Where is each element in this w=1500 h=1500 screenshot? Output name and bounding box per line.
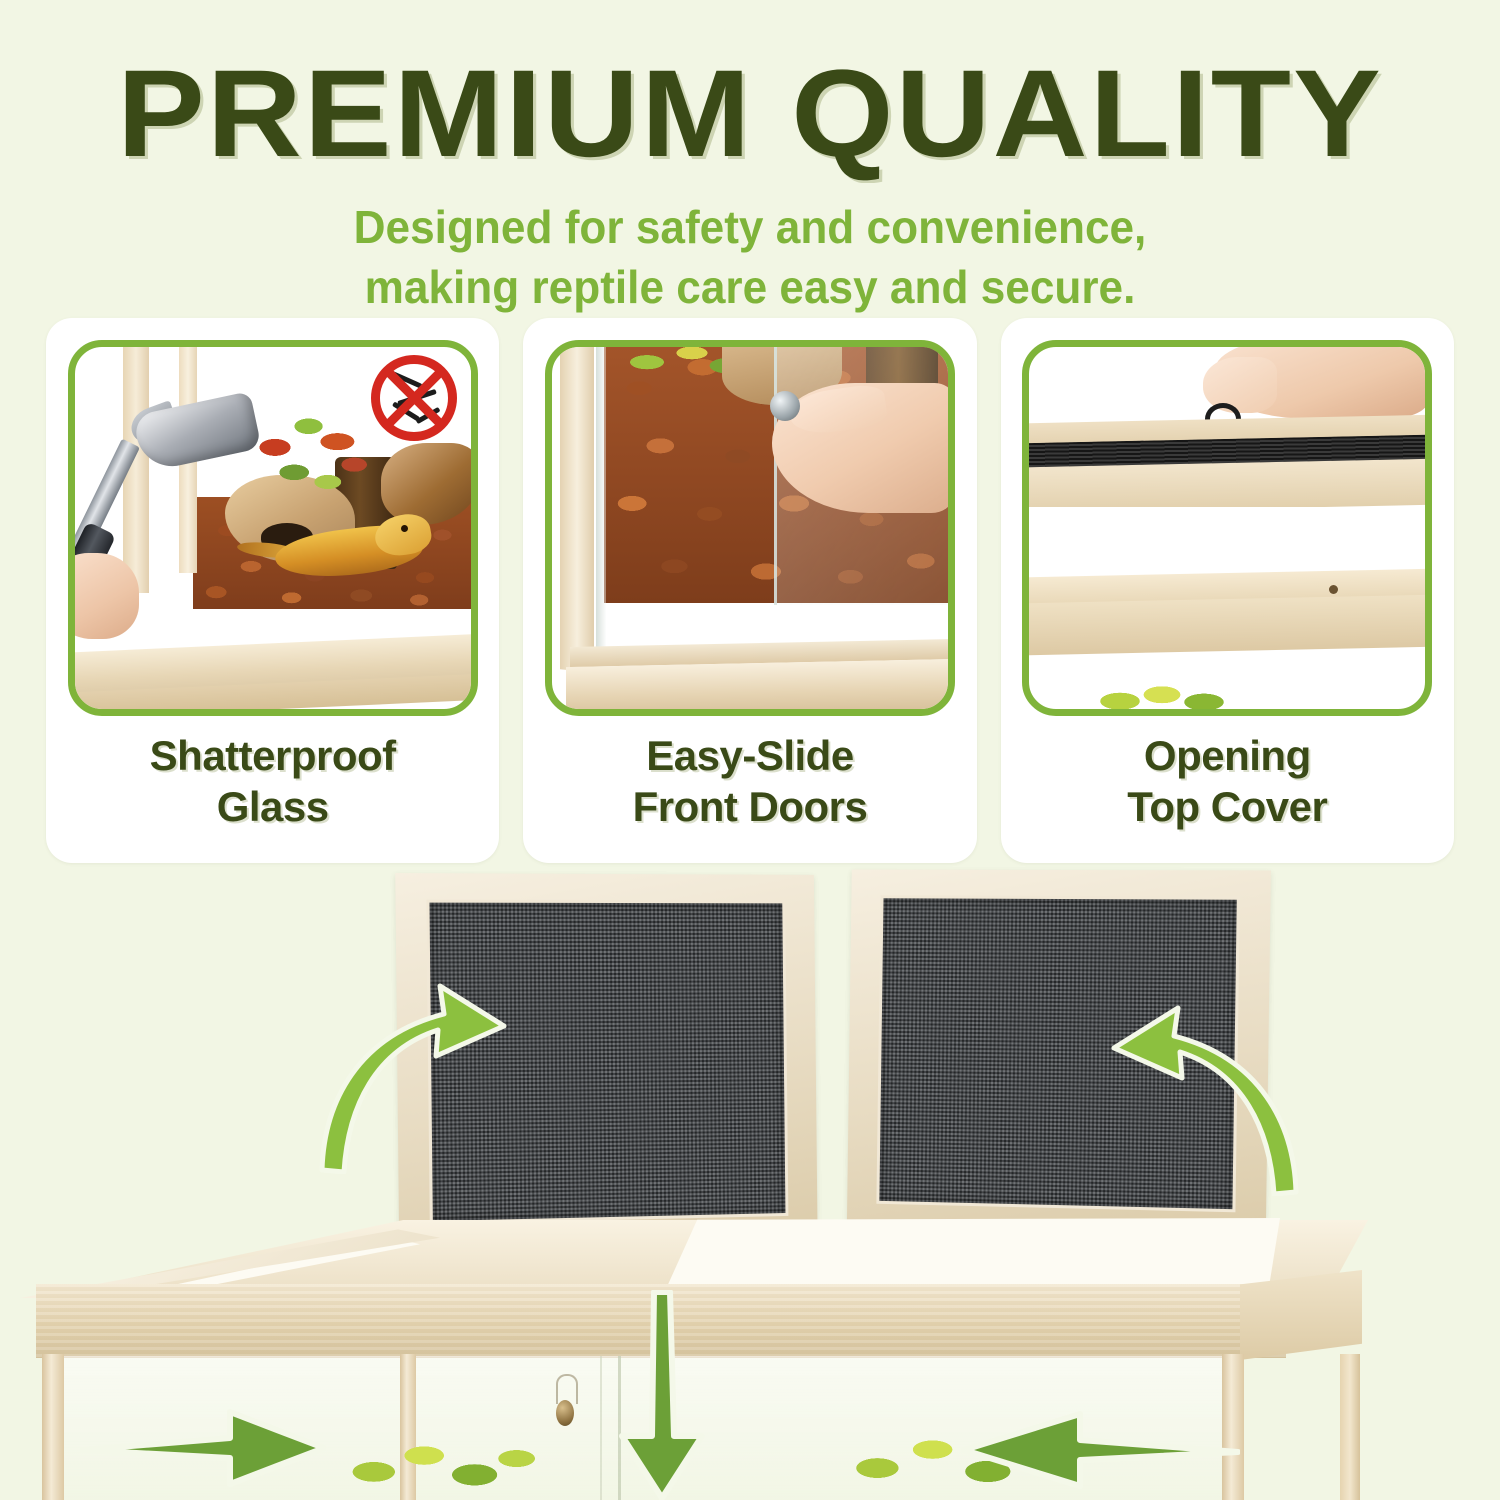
feature-card-caption: Easy-Slide Front Doors: [633, 730, 868, 832]
curved-arrow-left-icon: [1100, 996, 1300, 1196]
caption-line-2: Front Doors: [633, 781, 868, 832]
infographic-page: PREMIUM QUALITY Designed for safety and …: [0, 0, 1500, 1500]
door-knob: [770, 391, 800, 421]
subtitle-line-1: Designed for safety and convenience,: [30, 198, 1470, 258]
artificial-plant-left: [336, 1426, 546, 1500]
arrow-right-icon: [80, 1398, 326, 1494]
caption-line-1: Opening: [1127, 730, 1327, 781]
glass-edge: [596, 340, 606, 661]
artificial-plant: [1087, 669, 1237, 715]
caption-line-2: Glass: [150, 781, 396, 832]
artificial-plant: [251, 409, 371, 505]
caption-line-1: Shatterproof: [150, 730, 396, 781]
wood-frame-post: [560, 340, 594, 673]
hand-holding-hammer: [68, 553, 139, 639]
no-shatter-icon: [371, 355, 457, 441]
arrow-down-icon: [608, 1290, 718, 1500]
wood-base-rail: [566, 659, 955, 716]
opening-top-cover-photo: [1022, 340, 1432, 716]
cabinet-leg-left: [42, 1354, 64, 1500]
shatterproof-glass-photo: [68, 340, 478, 716]
feature-card-shatterproof-glass[interactable]: Shatterproof Glass: [46, 318, 499, 863]
cabinet-leg-far-right: [1340, 1354, 1360, 1500]
page-title: PREMIUM QUALITY: [0, 52, 1500, 176]
wood-board-fourth: [1022, 595, 1432, 656]
subtitle-line-2: making reptile care easy and secure.: [30, 258, 1470, 318]
enclosure-gap: [1022, 507, 1432, 577]
glass-door-edge: [600, 1356, 602, 1500]
feature-card-row: Shatterproof Glass Easy-Slide: [46, 318, 1454, 863]
door-knob[interactable]: [556, 1400, 574, 1426]
page-subtitle: Designed for safety and convenience, mak…: [30, 198, 1470, 318]
wood-board-second: [1022, 459, 1432, 514]
caption-line-1: Easy-Slide: [633, 730, 868, 781]
caption-line-2: Top Cover: [1127, 781, 1327, 832]
feature-card-caption: Shatterproof Glass: [150, 730, 396, 832]
bearded-dragon-eye: [401, 525, 408, 532]
arrow-left-icon: [960, 1400, 1240, 1496]
cabinet-right-side-panel: [1240, 1270, 1362, 1360]
feature-card-caption: Opening Top Cover: [1127, 730, 1327, 832]
easy-slide-front-doors-photo: [545, 340, 955, 716]
feature-card-easy-slide-front-doors[interactable]: Easy-Slide Front Doors: [523, 318, 976, 863]
curved-arrow-right-icon: [318, 974, 508, 1174]
feature-card-opening-top-cover[interactable]: Opening Top Cover: [1001, 318, 1454, 863]
